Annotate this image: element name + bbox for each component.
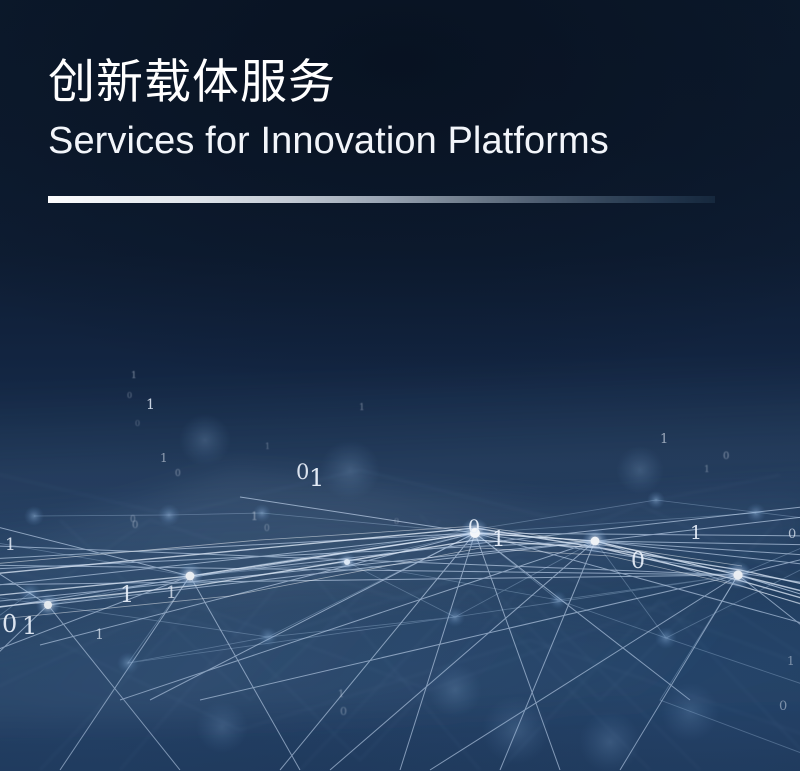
- innovation-platforms-banner: 101101101010101010101011011001010 创新载体服务…: [0, 0, 800, 771]
- gradient-divider: [48, 196, 715, 203]
- page-title-cn: 创新载体服务: [48, 56, 748, 109]
- page-title-en: Services for Innovation Platforms: [48, 121, 748, 163]
- banner-header: 创新载体服务 Services for Innovation Platforms: [48, 56, 748, 162]
